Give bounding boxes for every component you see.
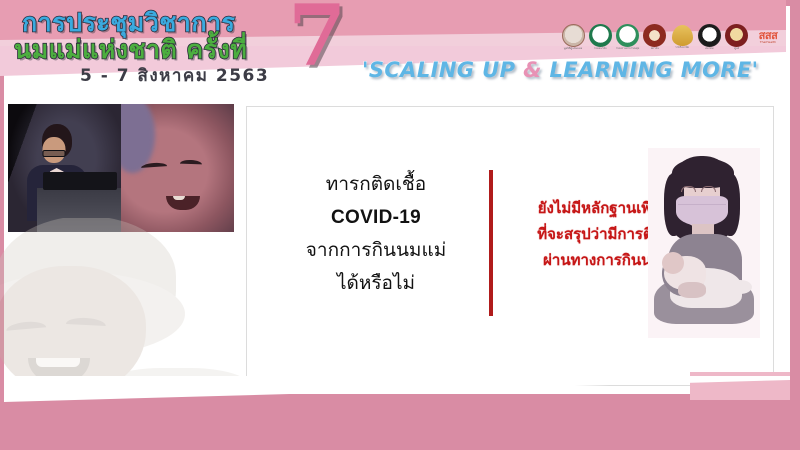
masked-mother-breastfeeding-illustration — [648, 148, 760, 338]
black-circle-icon — [698, 24, 721, 47]
footer-pink-band — [0, 394, 800, 450]
logo-caption: มูลนิธิศูนย์นมแม่ — [564, 48, 582, 51]
logo-caption: ศูนย์ — [734, 48, 739, 51]
question-line-1: ทารกติดเชื้อ — [278, 168, 474, 201]
tagline-ampersand: & — [523, 58, 542, 82]
mother-foot — [728, 280, 752, 294]
logo-caption: สถาบัน — [651, 48, 659, 51]
mother-eye-left — [681, 186, 696, 192]
thaihealth-sss-logo: สสส ThaiHealth — [751, 30, 785, 44]
red-emblem-icon — [643, 24, 666, 47]
speaker-video-tile — [8, 104, 121, 232]
logo-caption: กรมอนามัย — [594, 48, 607, 51]
tagline-part1: 'SCALING UP — [362, 58, 523, 82]
tagline-part2: LEARNING MORE' — [542, 58, 759, 82]
sponsor-logo-row: มูลนิธิศูนย์นมแม่ กรมอนามัย กระทรวงสาธาร… — [560, 17, 785, 57]
health-department-logo: กระทรวงสาธารณสุข — [615, 21, 641, 53]
dark-red-emblem-icon — [725, 24, 748, 47]
baby-eye-right — [180, 160, 202, 165]
red-emblem-logo: สถาบัน — [642, 21, 668, 53]
question-line-3: จากการกินนมแม่ — [278, 234, 474, 267]
presentation-slide: 7 การประชุมวิชาการ นมแม่แห่งชาติ ครั้งที… — [0, 0, 800, 450]
black-circle-logo: สมาคม — [696, 21, 722, 53]
royal-seal-logo: มูลนิธิศูนย์นมแม่ — [560, 21, 586, 53]
garuda-icon — [672, 25, 693, 46]
mother-hand — [678, 282, 706, 298]
health-dept-icon — [616, 24, 639, 47]
video-call-panel — [8, 104, 234, 232]
royal-seal-icon — [562, 24, 585, 47]
mother-eye-right — [701, 186, 716, 192]
eyeglasses-icon — [42, 150, 65, 157]
logo-caption: ราชวิทยาลัย — [675, 47, 689, 50]
face-mask-fold — [678, 204, 726, 205]
baby-video-tile — [121, 104, 234, 232]
logo-caption: กระทรวงสาธารณสุข — [616, 48, 639, 51]
watermark-teeth — [36, 358, 80, 367]
logo-caption: สมาคม — [705, 48, 713, 51]
conference-tagline: 'SCALING UP & LEARNING MORE' — [362, 58, 758, 82]
gold-garuda-logo: ราชวิทยาลัย — [669, 21, 695, 53]
question-line-4: ได้หรือไม่ — [278, 267, 474, 300]
baby-head — [662, 252, 684, 274]
dark-red-emblem-logo: ศูนย์ — [724, 21, 750, 53]
vertical-divider — [489, 170, 493, 316]
edition-number: 7 — [288, 0, 346, 78]
conference-date: 5 - 7 สิงหาคม 2563 — [80, 62, 269, 89]
child-background-watermark — [0, 218, 250, 394]
question-line-2: COVID-19 — [278, 201, 474, 234]
sss-subtext: ThaiHealth — [760, 41, 776, 44]
ministry-public-health-logo: กรมอนามัย — [587, 21, 613, 53]
ministry-icon — [589, 24, 612, 47]
face-mask-icon — [676, 196, 728, 226]
question-text: ทารกติดเชื้อ COVID-19 จากการกินนมแม่ ได้… — [278, 168, 474, 300]
